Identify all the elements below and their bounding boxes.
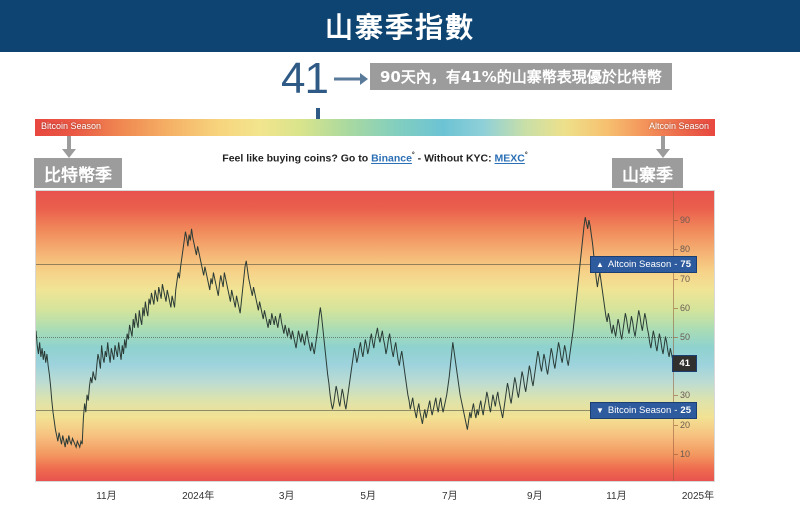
chart-x-tick-7: 2025年: [682, 487, 714, 502]
bitcoin-season-threshold-label: Bitcoin Season: [608, 405, 671, 416]
bitcoin-season-threshold-badge: ▼ Bitcoin Season - 25: [590, 402, 697, 419]
chart-y-tick-10: 10: [680, 449, 690, 459]
bitcoin-badge-separator: -: [674, 405, 677, 416]
triangle-down-icon: ▼: [596, 406, 604, 415]
index-value: 41: [281, 57, 328, 101]
index-callout: 90天內，有41%的山寨幣表現優於比特幣: [370, 63, 672, 90]
promo-middle: - Without KYC:: [415, 153, 495, 165]
altcoin-season-threshold-label: Altcoin Season: [608, 259, 671, 270]
altcoin-season-bar-label: Altcoin Season: [649, 121, 709, 131]
chart-x-tick-6: 11月: [606, 487, 626, 502]
chart-x-tick-3: 5月: [360, 487, 376, 502]
chart-x-tick-1: 2024年: [182, 487, 214, 502]
chart-y-tick-20: 20: [680, 420, 690, 430]
index-callout-text: 90天內，有41%的山寨幣表現優於比特幣: [380, 66, 662, 87]
chart-y-axis: 9080706050302010: [674, 191, 714, 481]
mexc-link-sup: °: [525, 152, 528, 159]
binance-link[interactable]: Binance: [371, 153, 412, 165]
current-value-badge: 41: [672, 355, 697, 372]
triangle-up-icon: ▲: [596, 260, 604, 269]
chart-y-tick-60: 60: [680, 303, 690, 313]
chart-series-line: [36, 191, 674, 482]
bitcoin-season-threshold-value: 25: [680, 405, 691, 416]
chart-x-tick-0: 11月: [96, 487, 116, 502]
chart-x-axis: 11月2024年3月5月7月9月11月2025年: [35, 484, 715, 506]
mexc-link[interactable]: MEXC: [495, 153, 525, 165]
altcoin-season-threshold-badge: ▲ Altcoin Season - 75: [590, 256, 697, 273]
chart-y-tick-70: 70: [680, 274, 690, 284]
altcoin-season-index-page: 山寨季指數 41 90天內，有41%的山寨幣表現優於比特幣 Bitcoin Se…: [0, 0, 800, 509]
chart-x-tick-5: 9月: [527, 487, 543, 502]
current-value-label: 41: [679, 358, 690, 369]
page-header: 山寨季指數: [0, 0, 800, 52]
right-arrow-icon: [334, 72, 368, 86]
page-title: 山寨季指數: [325, 6, 475, 46]
promo-text: Feel like buying coins? Go to Binance° -…: [35, 152, 715, 165]
chart-y-tick-80: 80: [680, 244, 690, 254]
series-line-Altcoin Season Index: [36, 217, 674, 447]
altcoin-badge-separator: -: [674, 259, 677, 270]
altcoin-season-index-chart[interactable]: BLOCKCHAIN CENTER.NET 9080706050302010 ▲…: [35, 190, 715, 482]
chart-x-tick-4: 7月: [442, 487, 458, 502]
chart-y-tick-90: 90: [680, 215, 690, 225]
promo-prefix: Feel like buying coins? Go to: [222, 153, 371, 165]
altcoin-season-threshold-value: 75: [680, 259, 691, 270]
season-gradient-bar: Bitcoin Season Altcoin Season: [35, 119, 715, 136]
bitcoin-season-bar-label: Bitcoin Season: [41, 121, 101, 131]
chart-y-tick-50: 50: [680, 332, 690, 342]
chart-y-tick-30: 30: [680, 390, 690, 400]
chart-x-tick-2: 3月: [279, 487, 295, 502]
